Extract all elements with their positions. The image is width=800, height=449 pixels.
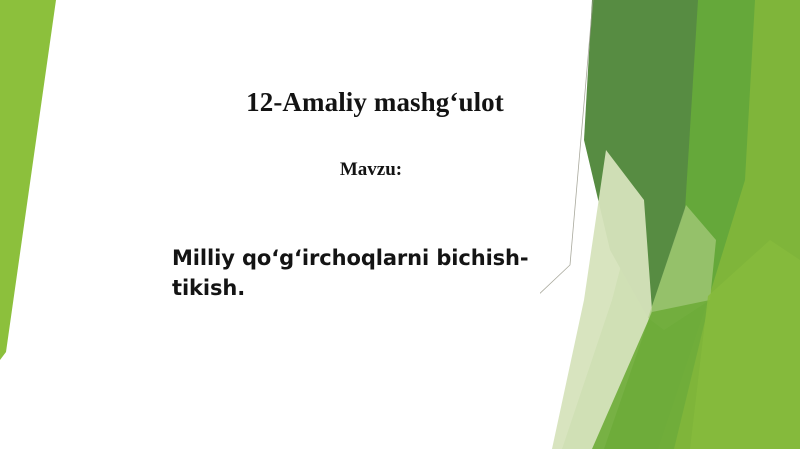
right-decoration-group [540, 0, 800, 449]
slide-subtitle: Mavzu: [0, 158, 742, 182]
right-mid-green-wedge [562, 0, 755, 449]
slide-body-text: Milliy qo‘g‘irchoqlarni bichish-tikish. [172, 243, 552, 303]
right-bright-green-band [625, 0, 800, 449]
right-lowest-bright-wedge [690, 240, 800, 449]
left-decoration-group [0, 0, 90, 449]
right-lower-mid-green-wedge [592, 300, 710, 449]
right-light-green-wedge [648, 205, 716, 330]
slide-title: 12-Amaliy mashg‘ulot [0, 85, 750, 119]
presentation-slide: 12-Amaliy mashg‘ulot Mavzu: Milliy qo‘g‘… [0, 0, 800, 449]
right-pale-green-wedge [552, 150, 652, 449]
